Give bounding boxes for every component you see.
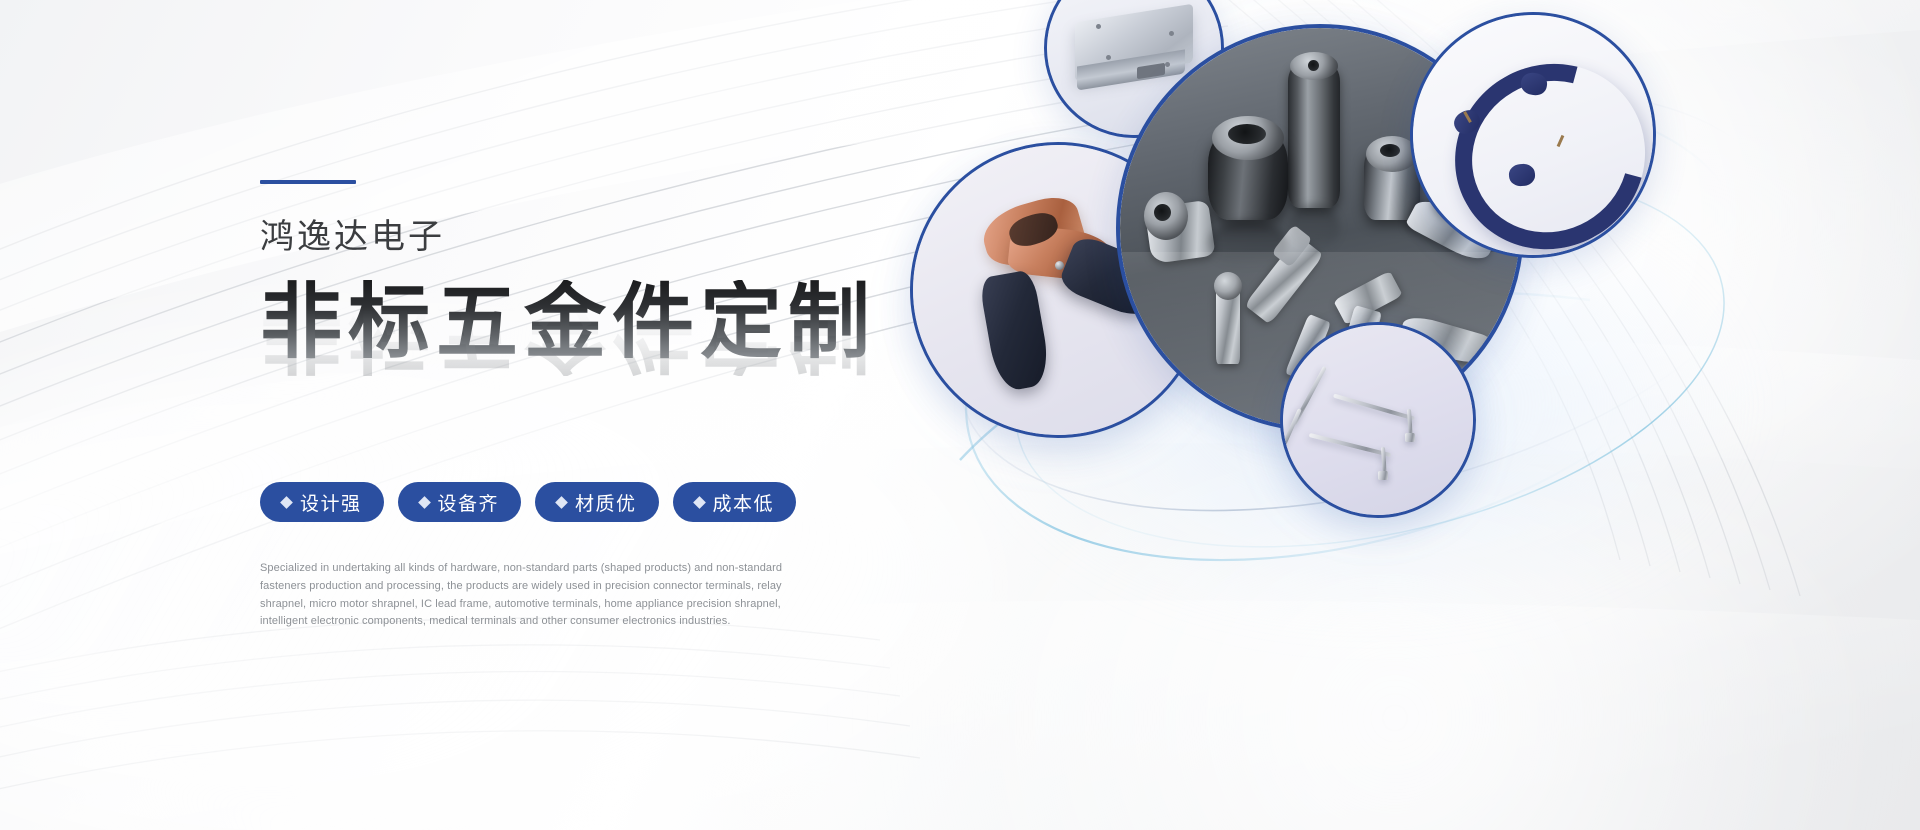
- feature-badge-material[interactable]: 材质优: [535, 482, 659, 522]
- accent-rule: [260, 180, 356, 184]
- diamond-icon: [280, 496, 293, 509]
- diamond-icon: [693, 496, 706, 509]
- hero-copy: 鸿逸达电子 非标五金件定制 非标五金件定制 设计强 设备齐 材质优 成本低: [260, 180, 900, 642]
- feature-badge-label: 设备齐: [438, 489, 500, 516]
- feature-badge-label: 成本低: [713, 489, 775, 516]
- diamond-icon: [418, 496, 431, 509]
- hero-banner: 鸿逸达电子 非标五金件定制 非标五金件定制 设计强 设备齐 材质优 成本低: [0, 0, 1920, 830]
- feature-badge-label: 设计强: [300, 489, 362, 516]
- feature-badge-label: 材质优: [575, 489, 637, 516]
- company-name: 鸿逸达电子: [260, 220, 900, 254]
- feature-badge-design[interactable]: 设计强: [260, 482, 384, 522]
- product-collage: [900, 0, 1920, 830]
- bent-metal-pins-image: [1283, 325, 1473, 515]
- bubble-bent-metal-pins[interactable]: [1280, 322, 1476, 518]
- diamond-icon: [555, 496, 568, 509]
- blue-c-ring-bracket-image: [1413, 15, 1653, 255]
- company-description: Specialized in undertaking all kinds of …: [260, 560, 826, 631]
- feature-badge-equipment[interactable]: 设备齐: [398, 482, 522, 522]
- page-title: 非标五金件定制: [260, 280, 900, 367]
- headline-block: 非标五金件定制 非标五金件定制: [260, 280, 900, 430]
- bubble-blue-c-ring-bracket[interactable]: [1410, 12, 1656, 258]
- feature-badge-cost[interactable]: 成本低: [673, 482, 797, 522]
- feature-badge-list: 设计强 设备齐 材质优 成本低: [260, 482, 900, 522]
